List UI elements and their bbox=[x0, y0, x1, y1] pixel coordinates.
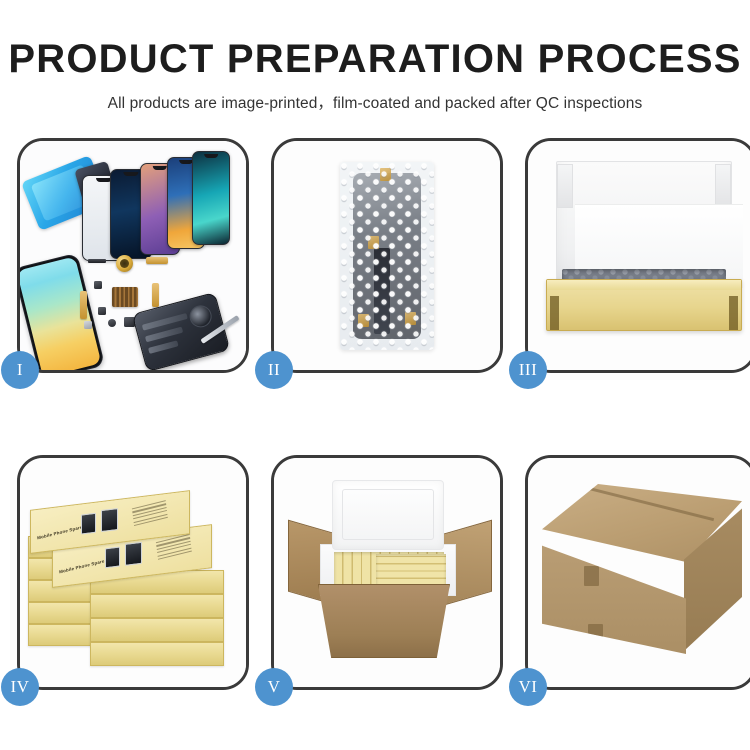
step-image-2 bbox=[274, 141, 500, 370]
product-preparation-infographic: PRODUCT PREPARATION PROCESS All products… bbox=[0, 0, 750, 750]
sealed-carton-icon bbox=[542, 484, 742, 662]
step-badge-2: II bbox=[255, 351, 293, 389]
small-part-icon bbox=[94, 281, 102, 289]
speaker-coil-part-icon bbox=[116, 255, 133, 272]
small-part-icon bbox=[108, 319, 116, 327]
step-image-3 bbox=[528, 141, 750, 370]
box-tray bbox=[546, 279, 742, 331]
small-part-icon bbox=[98, 307, 106, 315]
step-panel-1: I bbox=[17, 138, 249, 373]
bar-part-icon bbox=[88, 259, 106, 263]
open-export-carton-icon bbox=[290, 480, 490, 672]
stacked-retail-boxes-icon: Mobile Phone Spare Parts Mobile Phone Sp… bbox=[28, 482, 242, 672]
step-panel-2: II bbox=[271, 138, 503, 373]
open-inner-box-icon bbox=[542, 161, 746, 351]
step-image-6 bbox=[528, 458, 750, 687]
step-image-1 bbox=[20, 141, 246, 370]
step-panel-5: V bbox=[271, 455, 503, 690]
small-part-icon bbox=[84, 321, 92, 329]
step-panel-6: VI bbox=[525, 455, 750, 690]
step-badge-4: IV bbox=[1, 668, 39, 706]
step-image-4: Mobile Phone Spare Parts Mobile Phone Sp… bbox=[20, 458, 246, 687]
step-badge-3: III bbox=[509, 351, 547, 389]
foam-lid bbox=[332, 480, 444, 550]
flex-cable-part-icon bbox=[152, 283, 159, 307]
chip-grid-part-icon bbox=[112, 287, 138, 307]
bubble-wrapped-screen-icon bbox=[340, 162, 434, 350]
step-badge-1: I bbox=[1, 351, 39, 389]
flex-cable-part-icon bbox=[80, 291, 87, 319]
carton-body bbox=[318, 584, 450, 658]
step-panel-3: III bbox=[525, 138, 750, 373]
step-badge-6: VI bbox=[509, 668, 547, 706]
page-title: PRODUCT PREPARATION PROCESS bbox=[0, 38, 750, 80]
step-panel-4: Mobile Phone Spare Parts Mobile Phone Sp… bbox=[17, 455, 249, 690]
step-badge-5: V bbox=[255, 668, 293, 706]
step-image-5 bbox=[274, 458, 500, 687]
process-steps-grid: I II bbox=[17, 138, 733, 690]
page-subtitle: All products are image-printed，film-coat… bbox=[0, 91, 750, 113]
flex-cable-part-icon bbox=[146, 257, 168, 264]
header: PRODUCT PREPARATION PROCESS All products… bbox=[0, 0, 750, 113]
